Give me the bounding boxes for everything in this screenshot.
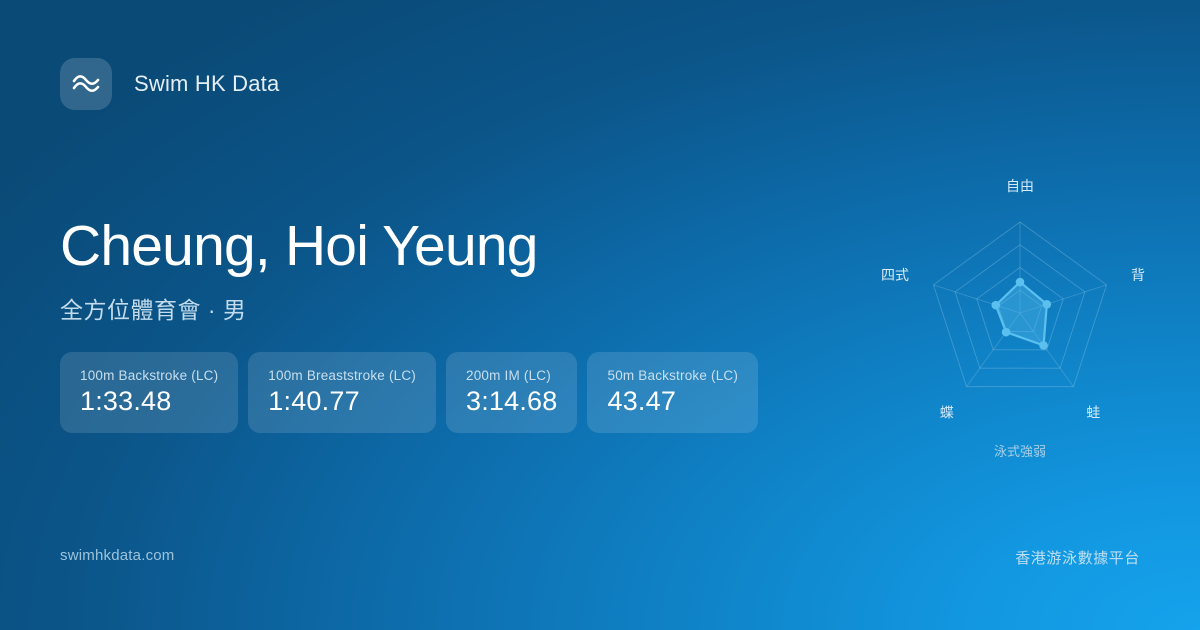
radar-svg: 自由背蛙蝶四式 xyxy=(860,160,1180,480)
stat-value: 1:40.77 xyxy=(268,387,416,417)
share-card: Swim HK Data Cheung, Hoi Yeung 全方位體育會 · … xyxy=(0,0,1200,630)
stat-label: 100m Backstroke (LC) xyxy=(80,368,218,383)
athlete-meta: 全方位體育會 · 男 xyxy=(60,291,820,325)
radar-chart: 自由背蛙蝶四式 xyxy=(860,160,1180,480)
radar-axis-label: 四式 xyxy=(881,268,909,284)
radar-axis-label: 蛙 xyxy=(1086,406,1100,422)
stat-card-list: 100m Backstroke (LC) 1:33.48 100m Breast… xyxy=(60,352,758,433)
stat-card[interactable]: 50m Backstroke (LC) 43.47 xyxy=(587,352,758,433)
stat-label: 200m IM (LC) xyxy=(466,368,557,383)
stat-value: 43.47 xyxy=(607,387,738,417)
stat-value: 3:14.68 xyxy=(466,387,557,417)
radar-axis-label: 自由 xyxy=(1006,179,1034,195)
stat-card[interactable]: 100m Backstroke (LC) 1:33.48 xyxy=(60,352,238,433)
footer-tagline: 香港游泳數據平台 xyxy=(1015,547,1140,568)
radar-axis-label: 蝶 xyxy=(940,406,954,422)
app-logo xyxy=(60,58,112,110)
radar-caption: 泳式強弱 xyxy=(860,441,1180,460)
wave-icon xyxy=(71,73,101,95)
stat-value: 1:33.48 xyxy=(80,387,218,417)
radar-axis-label: 背 xyxy=(1131,268,1145,284)
stat-label: 100m Breaststroke (LC) xyxy=(268,368,416,383)
stat-card[interactable]: 200m IM (LC) 3:14.68 xyxy=(446,352,577,433)
brand-name: Swim HK Data xyxy=(134,71,279,97)
brand-header: Swim HK Data xyxy=(60,58,279,110)
hero-section: Cheung, Hoi Yeung 全方位體育會 · 男 xyxy=(60,215,820,325)
stat-card[interactable]: 100m Breaststroke (LC) 1:40.77 xyxy=(248,352,436,433)
page-title: Cheung, Hoi Yeung xyxy=(60,215,820,279)
footer-site: swimhkdata.com xyxy=(60,547,175,564)
stat-label: 50m Backstroke (LC) xyxy=(607,368,738,383)
